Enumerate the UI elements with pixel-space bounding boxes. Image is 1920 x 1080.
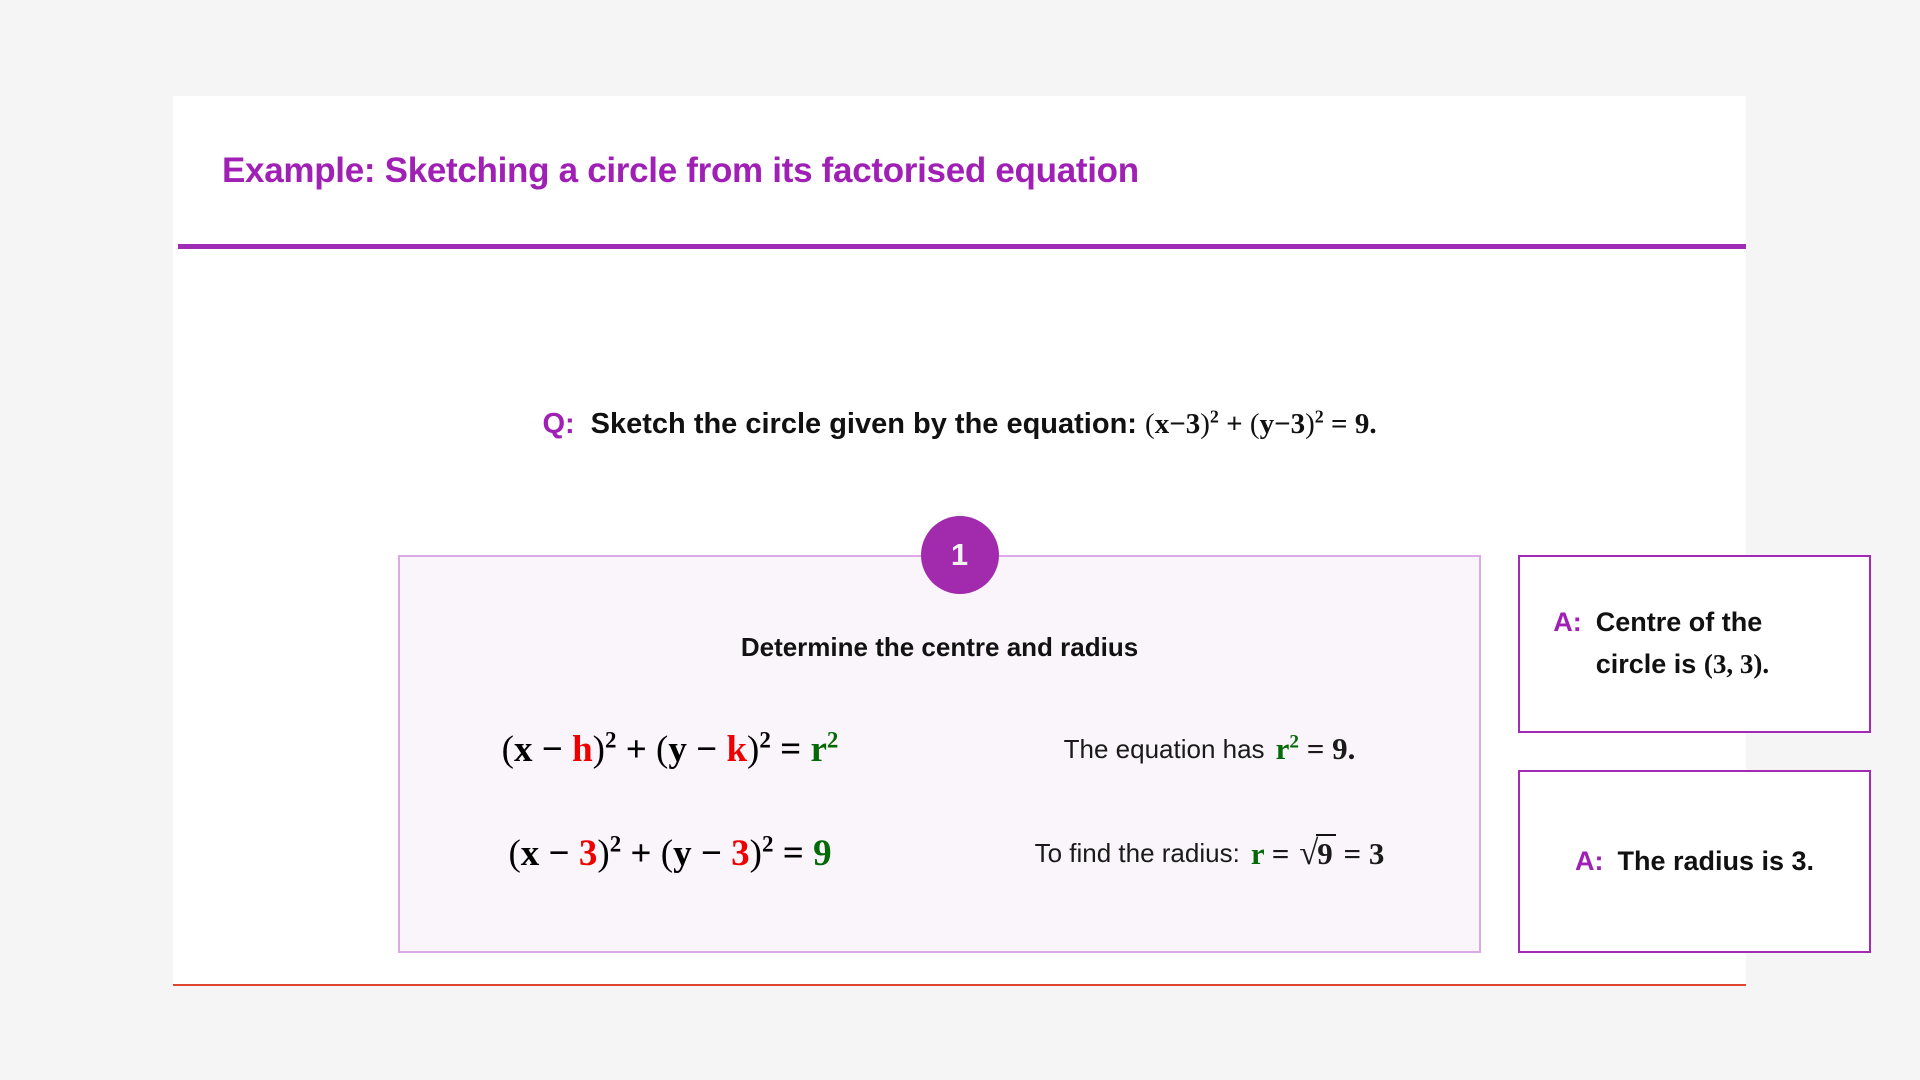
- question-eq-minus2: −: [1274, 408, 1291, 440]
- sf-exp2: 2: [762, 831, 773, 856]
- substituted-formula-cell: (x − 3)2 + (y − 3)2 = 9: [400, 832, 940, 875]
- note-one-cell: The equation has r2 = 9.: [940, 731, 1479, 767]
- sf-plus: +: [630, 833, 651, 874]
- substituted-formula: (x − 3)2 + (y − 3)2 = 9: [508, 832, 831, 875]
- question-eq-x: x: [1155, 408, 1170, 440]
- gf-plus: +: [626, 729, 647, 770]
- n1-value: 9: [1332, 731, 1348, 766]
- gf-minus1: −: [542, 729, 563, 770]
- gf-minus2: −: [696, 729, 717, 770]
- n1-r: r: [1276, 731, 1290, 766]
- n2-equals-1: =: [1272, 836, 1290, 871]
- gf-exp2: 2: [759, 727, 770, 752]
- answer-label-radius: A:: [1575, 841, 1604, 883]
- gf-y: y: [668, 729, 687, 770]
- question-eq-period: .: [1369, 408, 1376, 440]
- square-root-icon: √9: [1297, 833, 1336, 873]
- n2-result: 3: [1369, 836, 1385, 871]
- step-heading: Determine the centre and radius: [400, 632, 1479, 663]
- gf-x: x: [514, 729, 533, 770]
- answer-box-radius: A: The radius is 3.: [1518, 770, 1871, 953]
- answer-label-centre: A:: [1553, 602, 1582, 644]
- sf-minus2: −: [701, 833, 722, 874]
- step-number-badge: 1: [921, 516, 999, 594]
- step-body: (x − h)2 + (y − k)2 = r2 The equation ha…: [400, 697, 1479, 905]
- gf-k: k: [726, 729, 747, 770]
- question-eq-exp2: 2: [1315, 406, 1324, 426]
- sf-y: y: [673, 833, 692, 874]
- question-eq-exp1: 2: [1210, 406, 1219, 426]
- note-two-cell: To find the radius: r = √9 = 3: [940, 833, 1479, 873]
- question-eq-k: 3: [1291, 408, 1306, 440]
- question-eq-y: y: [1260, 408, 1275, 440]
- n1-exp: 2: [1289, 732, 1299, 753]
- note-one-math: r2 = 9.: [1276, 731, 1356, 767]
- answer-centre-inner: A: Centre of the circle is (3, 3).: [1553, 602, 1836, 686]
- answer-centre-coordinate: (3, 3).: [1704, 649, 1769, 679]
- n2-radicand: 9: [1316, 834, 1336, 871]
- lesson-card: Example: Sketching a circle from its fac…: [173, 96, 1746, 986]
- page-title: Example: Sketching a circle from its fac…: [222, 151, 1139, 191]
- question-text-group: Sketch the circle given by the equation:…: [591, 408, 1377, 441]
- gf-h: h: [572, 729, 593, 770]
- gf-exp3: 2: [827, 727, 838, 752]
- answer-radius-text: The radius is 3.: [1617, 841, 1814, 883]
- question-equation: (x−3)2 + (y−3)2 = 9.: [1145, 408, 1377, 440]
- sf-x: x: [521, 833, 540, 874]
- sf-rhs: 9: [813, 833, 832, 874]
- question-eq-equals: =: [1331, 408, 1348, 440]
- sf-equals: =: [783, 833, 804, 874]
- step-row-1: (x − h)2 + (y − k)2 = r2 The equation ha…: [400, 697, 1479, 801]
- n2-equals-2: =: [1344, 836, 1362, 871]
- sf-h: 3: [579, 833, 598, 874]
- question-eq-plus: +: [1226, 408, 1243, 440]
- question-eq-rhs: 9: [1355, 408, 1370, 440]
- note-one-text: The equation has: [1064, 734, 1265, 765]
- answer-radius-inner: A: The radius is 3.: [1575, 841, 1814, 883]
- sf-k: 3: [731, 833, 750, 874]
- n1-equals: =: [1307, 731, 1325, 766]
- gf-r: r: [810, 729, 826, 770]
- question-row: Q: Sketch the circle given by the equati…: [173, 408, 1746, 441]
- sf-exp1: 2: [610, 831, 621, 856]
- question-eq-h: 3: [1186, 408, 1201, 440]
- note-two-math: r = √9 = 3: [1251, 833, 1385, 873]
- sf-minus1: −: [549, 833, 570, 874]
- answer-centre-lead: Centre of the: [1596, 607, 1763, 637]
- step-row-2: (x − 3)2 + (y − 3)2 = 9 To find the radi…: [400, 801, 1479, 905]
- n1-period: .: [1348, 731, 1356, 766]
- card-bottom-accent: [173, 984, 1746, 986]
- answer-box-centre: A: Centre of the circle is (3, 3).: [1518, 555, 1871, 733]
- general-formula: (x − h)2 + (y − k)2 = r2: [502, 728, 839, 771]
- slide-root: Example: Sketching a circle from its fac…: [0, 0, 1920, 1080]
- question-prompt: Sketch the circle given by the equation:: [591, 408, 1137, 440]
- question-eq-minus1: −: [1169, 408, 1186, 440]
- step-panel: Determine the centre and radius (x − h)2…: [398, 555, 1481, 953]
- answer-centre-tail: circle is: [1596, 649, 1697, 679]
- answer-centre-text: Centre of the circle is (3, 3).: [1596, 602, 1836, 686]
- note-two-text: To find the radius:: [1035, 838, 1240, 869]
- question-label: Q:: [542, 408, 574, 441]
- n2-r: r: [1251, 836, 1264, 871]
- gf-equals: =: [780, 729, 801, 770]
- title-divider: [178, 244, 1746, 249]
- gf-exp1: 2: [605, 727, 616, 752]
- general-formula-cell: (x − h)2 + (y − k)2 = r2: [400, 728, 940, 771]
